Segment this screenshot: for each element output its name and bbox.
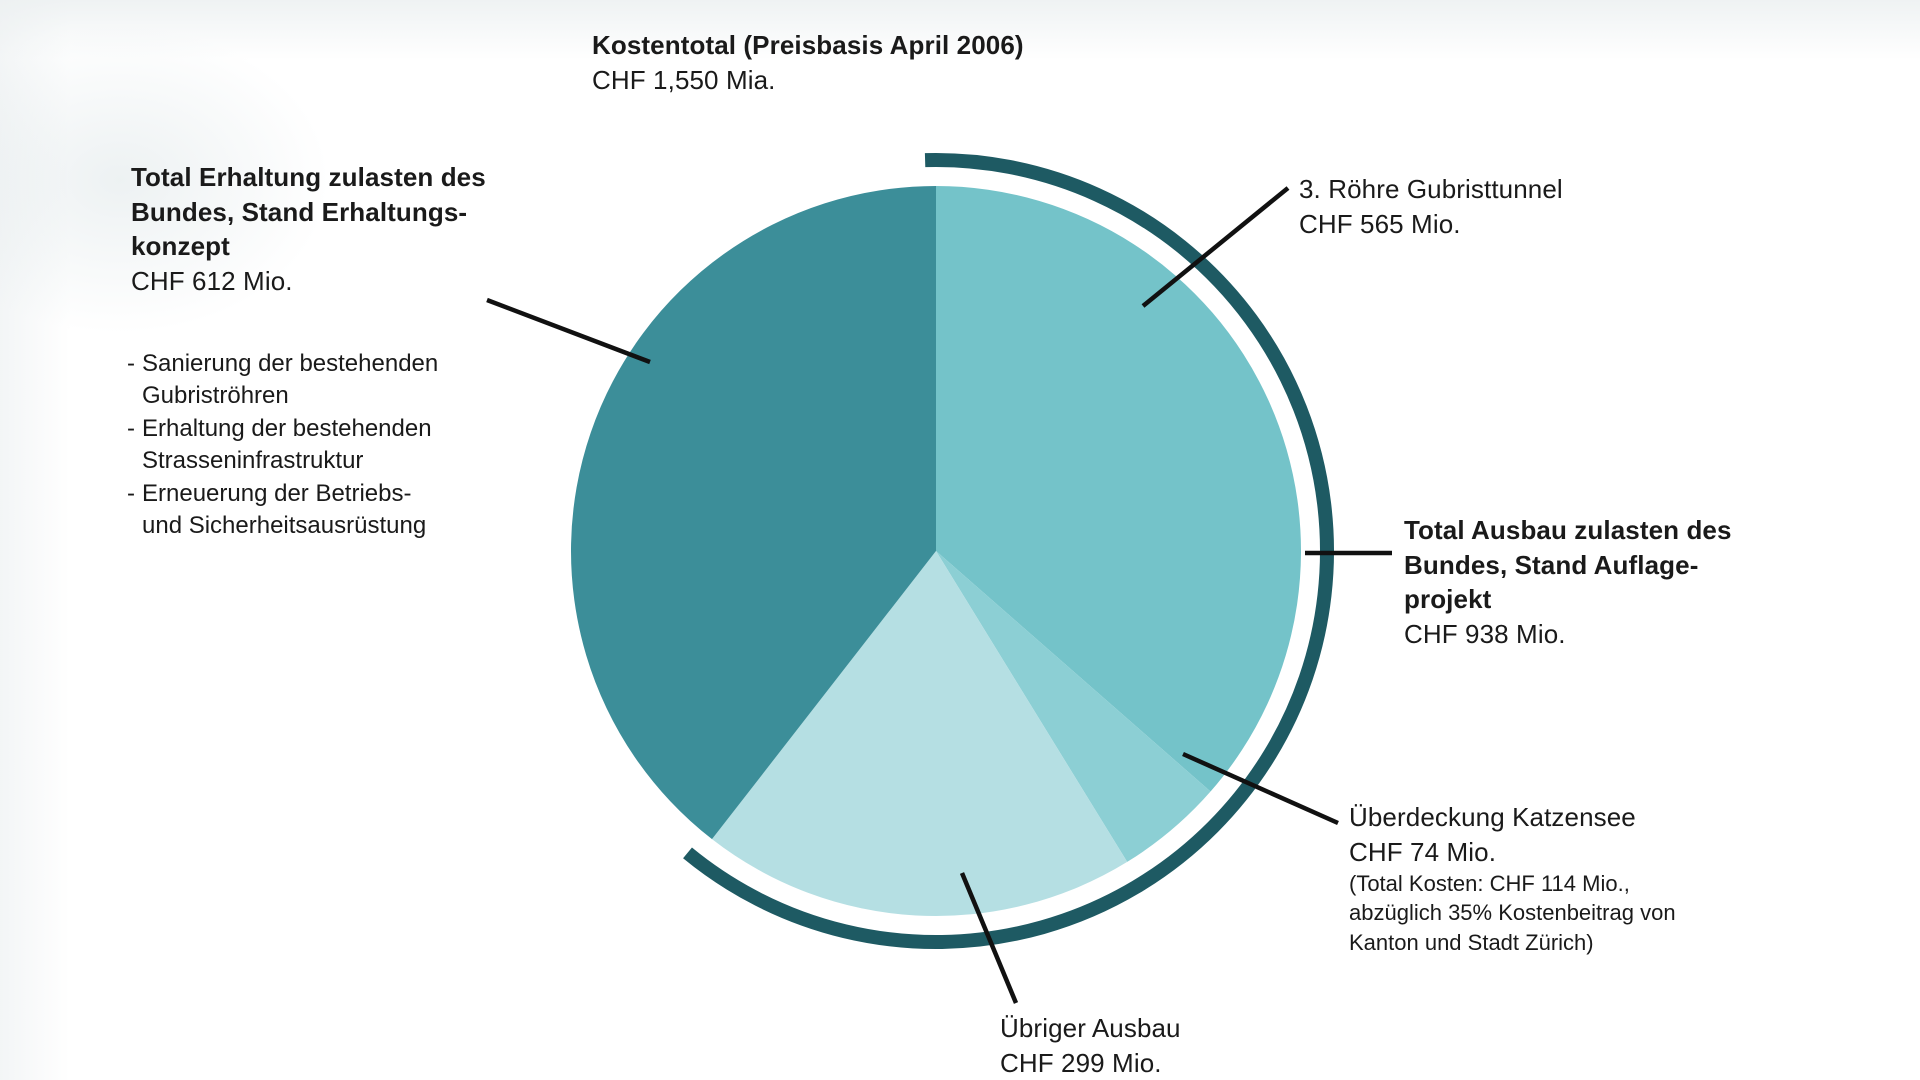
label-erhaltung-line3: konzept: [131, 229, 571, 264]
bullet-text: Erhaltung der bestehenden Strasseninfras…: [142, 413, 547, 478]
label-erhaltung-amount: CHF 612 Mio.: [131, 264, 571, 299]
erhaltung-bullet-list: - Sanierung der bestehenden Gubriströhre…: [127, 348, 547, 542]
label-katzensee-note3: Kanton und Stadt Zürich): [1349, 928, 1779, 957]
bullet-line2: Gubriströhren: [142, 382, 289, 409]
page-title: Kostentotal (Preisbasis April 2006): [592, 28, 1024, 63]
label-ausbau-line1: Total Ausbau zulasten des: [1404, 513, 1824, 548]
label-ausbau-line2: Bundes, Stand Auflage-: [1404, 548, 1824, 583]
bullet-line2: und Sicherheitsausrüstung: [142, 512, 426, 539]
bullet-line1: Sanierung der bestehenden: [142, 350, 438, 377]
bullet-line1: Erneuerung der Betriebs-: [142, 480, 411, 507]
pie-chart: [531, 146, 1341, 956]
list-item: - Sanierung der bestehenden Gubriströhre…: [127, 348, 547, 413]
label-erhaltung-line2: Bundes, Stand Erhaltungs-: [131, 195, 571, 230]
label-ausbau: Total Ausbau zulasten des Bundes, Stand …: [1404, 513, 1824, 651]
label-katzensee-note2: abzüglich 35% Kostenbeitrag von: [1349, 898, 1779, 927]
bullet-line1: Erhaltung der bestehenden: [142, 415, 432, 442]
bullet-dash: -: [127, 478, 135, 543]
bullet-text: Erneuerung der Betriebs- und Sicherheits…: [142, 478, 547, 543]
label-erhaltung: Total Erhaltung zulasten des Bundes, Sta…: [131, 160, 571, 298]
chart-title-block: Kostentotal (Preisbasis April 2006) CHF …: [592, 28, 1024, 97]
label-ausbau-line3: projekt: [1404, 582, 1824, 617]
bullet-dash: -: [127, 413, 135, 478]
pie-svg: [531, 146, 1341, 956]
label-katzensee-name: Überdeckung Katzensee: [1349, 800, 1779, 835]
label-katzensee-amount: CHF 74 Mio.: [1349, 835, 1779, 870]
label-uebriger-ausbau: Übriger Ausbau CHF 299 Mio.: [1000, 1011, 1181, 1080]
label-katzensee-note1: (Total Kosten: CHF 114 Mio.,: [1349, 869, 1779, 898]
label-gubristtunnel-amount: CHF 565 Mio.: [1299, 207, 1563, 242]
list-item: - Erhaltung der bestehenden Strasseninfr…: [127, 413, 547, 478]
bullet-line2: Strasseninfrastruktur: [142, 447, 363, 474]
label-gubristtunnel: 3. Röhre Gubristtunnel CHF 565 Mio.: [1299, 172, 1563, 241]
label-erhaltung-line1: Total Erhaltung zulasten des: [131, 160, 571, 195]
chart-total-amount: CHF 1,550 Mia.: [592, 63, 1024, 98]
label-uebriger-ausbau-name: Übriger Ausbau: [1000, 1011, 1181, 1046]
label-uebriger-ausbau-amount: CHF 299 Mio.: [1000, 1046, 1181, 1080]
label-ausbau-amount: CHF 938 Mio.: [1404, 617, 1824, 652]
chart-stage: Kostentotal (Preisbasis April 2006) CHF …: [0, 0, 1920, 1080]
bullet-text: Sanierung der bestehenden Gubriströhren: [142, 348, 547, 413]
label-katzensee: Überdeckung Katzensee CHF 74 Mio. (Total…: [1349, 800, 1779, 957]
list-item: - Erneuerung der Betriebs- und Sicherhei…: [127, 478, 547, 543]
bullet-dash: -: [127, 348, 135, 413]
label-gubristtunnel-name: 3. Röhre Gubristtunnel: [1299, 172, 1563, 207]
